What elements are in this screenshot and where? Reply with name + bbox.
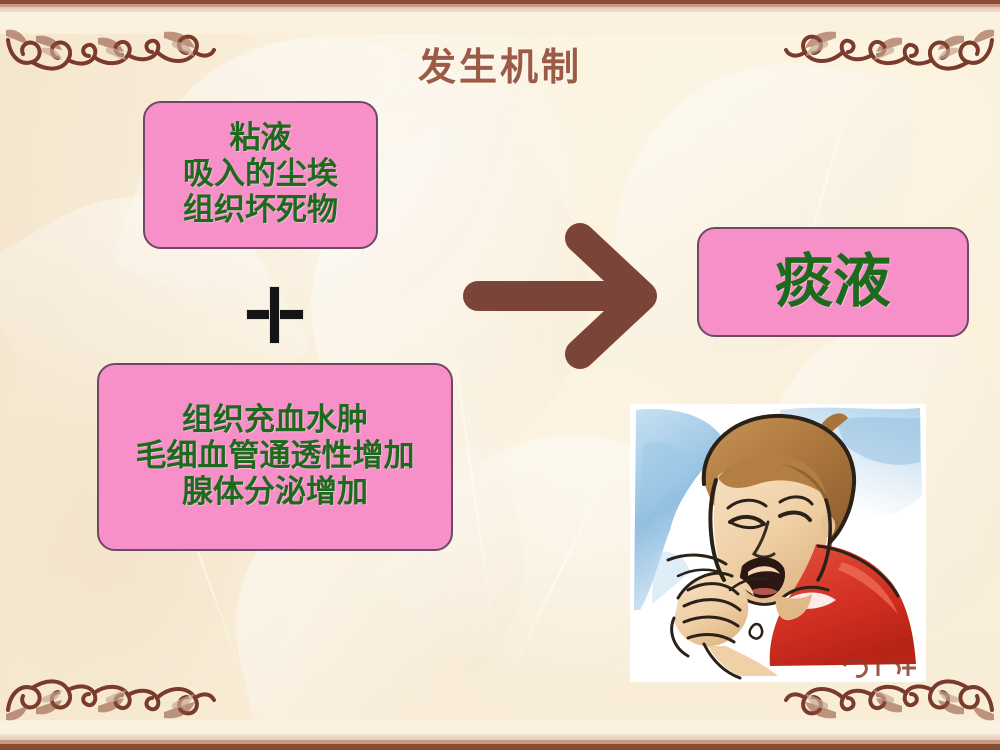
plus-icon [246,286,304,344]
box-inflammation-line-2: 毛细血管通透性增加 [136,439,415,475]
slide-canvas: 发生机制 粘液 吸入的尘埃 组织坏死物 组织充血水肿 毛细血管通透性增加 腺体分… [0,0,1000,750]
page-title: 发生机制 [0,36,1000,91]
box-result-sputum: 痰液 [697,227,969,337]
box-result-line-1: 痰液 [775,248,891,315]
box-inputs-line-3: 组织坏死物 [183,193,338,229]
box-mucus-inputs: 粘液 吸入的尘埃 组织坏死物 [143,101,378,249]
arrow-right-icon [460,218,670,373]
box-inflammation-line-3: 腺体分泌增加 [182,475,368,511]
box-inflammation-line-1: 组织充血水肿 [182,403,368,439]
box-inputs-line-2: 吸入的尘埃 [183,157,338,193]
coughing-child-illustration [630,404,926,682]
box-inputs-line-1: 粘液 [230,121,292,157]
plus-vertical-bar [269,286,280,344]
box-inflammation: 组织充血水肿 毛细血管通透性增加 腺体分泌增加 [97,363,453,551]
